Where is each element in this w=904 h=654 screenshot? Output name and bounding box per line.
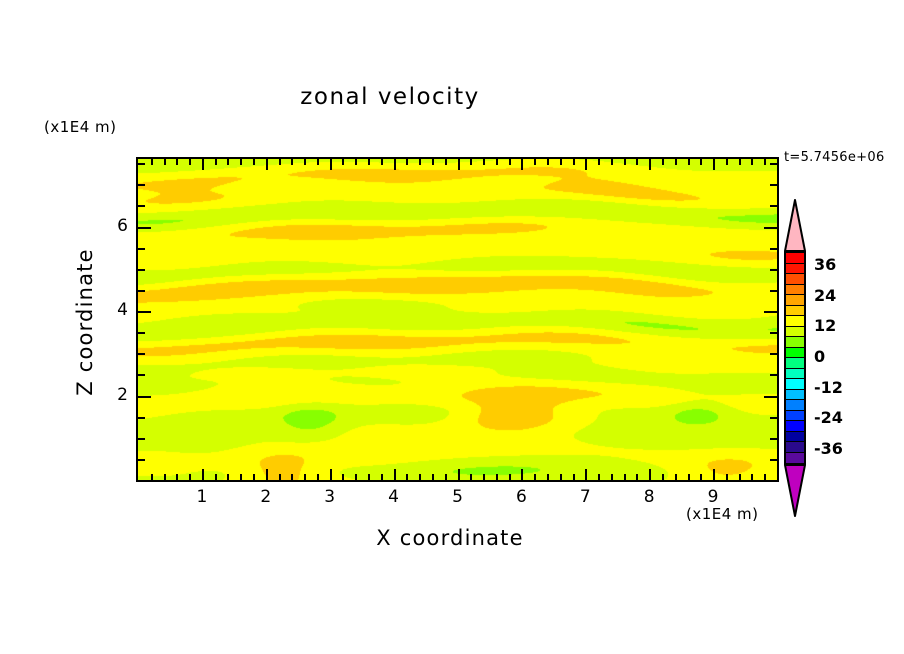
x-tick-bottom [470, 474, 472, 480]
y-tick-right [770, 459, 777, 461]
x-tick-bottom [394, 469, 396, 480]
x-tick-bottom [406, 474, 408, 480]
x-tick-top [598, 159, 600, 165]
colorbar-band [786, 411, 804, 422]
y-tick-right [770, 332, 777, 334]
colorbar-tick-label: -12 [814, 378, 843, 397]
x-tick-bottom [253, 474, 255, 480]
x-tick-top [419, 159, 421, 165]
x-tick-label: 5 [446, 487, 470, 507]
colorbar-band [786, 285, 804, 296]
y-tick-right [770, 248, 777, 250]
x-tick-top [176, 159, 178, 165]
colorbar-tick-label: 24 [814, 286, 836, 305]
y-tick-right [770, 353, 777, 355]
x-tick-label: 1 [190, 487, 214, 507]
y-tick-right [770, 205, 777, 207]
x-tick-bottom [726, 474, 728, 480]
colorbar-band [786, 274, 804, 285]
x-tick-bottom [777, 469, 779, 480]
y-tick-left [138, 248, 145, 250]
colorbar-band [786, 253, 804, 264]
x-tick-top [355, 159, 357, 165]
x-tick-top [202, 159, 204, 170]
colorbar-band [786, 369, 804, 380]
x-tick-label: 3 [318, 487, 342, 507]
x-tick-bottom [585, 469, 587, 480]
y-tick-label: 2 [104, 385, 128, 405]
x-tick-bottom [458, 469, 460, 480]
x-tick-bottom [355, 474, 357, 480]
y-tick-left [138, 417, 145, 419]
x-tick-label: 8 [637, 487, 661, 507]
colorbar-band [786, 390, 804, 401]
x-tick-bottom [164, 474, 166, 480]
x-tick-bottom [483, 474, 485, 480]
y-tick-left [138, 311, 151, 313]
y-tick-left [138, 438, 145, 440]
y-tick-right [770, 269, 777, 271]
x-tick-top [649, 159, 651, 170]
x-tick-top [713, 159, 715, 170]
x-tick-top [624, 159, 626, 165]
x-tick-top [253, 159, 255, 165]
x-tick-top [496, 159, 498, 165]
x-tick-top [458, 159, 460, 170]
x-tick-top [342, 159, 344, 165]
x-tick-top [151, 159, 153, 165]
x-tick-top [611, 159, 613, 165]
x-tick-label: 9 [701, 487, 725, 507]
x-tick-bottom [266, 469, 268, 480]
x-tick-top [470, 159, 472, 165]
x-tick-bottom [700, 474, 702, 480]
x-tick-top [521, 159, 523, 170]
x-tick-top [240, 159, 242, 165]
x-tick-top [330, 159, 332, 170]
x-tick-bottom [649, 469, 651, 480]
colorbar-under-arrow-icon [784, 464, 806, 517]
x-tick-bottom [240, 474, 242, 480]
x-tick-bottom [521, 469, 523, 480]
x-tick-bottom [317, 474, 319, 480]
x-tick-bottom [279, 474, 281, 480]
x-tick-top [189, 159, 191, 165]
y-tick-left [138, 459, 145, 461]
x-tick-bottom [688, 474, 690, 480]
y-tick-left [138, 184, 145, 186]
x-tick-bottom [751, 474, 753, 480]
x-tick-bottom [432, 474, 434, 480]
x-tick-bottom [419, 474, 421, 480]
y-tick-right [770, 163, 777, 165]
colorbar-band [786, 379, 804, 390]
x-tick-bottom [445, 474, 447, 480]
colorbar[interactable]: 3624120-12-24-36 [784, 199, 806, 517]
colorbar-tick-label: 36 [814, 255, 836, 274]
x-tick-top [279, 159, 281, 165]
timestamp-annotation: t=5.7456e+06 [784, 150, 885, 165]
x-tick-bottom [151, 474, 153, 480]
x-tick-label: 7 [573, 487, 597, 507]
x-tick-top [317, 159, 319, 165]
colorbar-tick-label: -24 [814, 408, 843, 427]
x-tick-top [636, 159, 638, 165]
x-tick-top [483, 159, 485, 165]
colorbar-bands [784, 251, 806, 465]
x-tick-top [215, 159, 217, 165]
x-tick-top [675, 159, 677, 165]
y-tick-left [138, 374, 145, 376]
colorbar-tick-label: 0 [814, 347, 825, 366]
x-tick-bottom [381, 474, 383, 480]
x-tick-bottom [611, 474, 613, 480]
page-title: zonal velocity [0, 84, 780, 110]
x-tick-label: 2 [254, 487, 278, 507]
colorbar-band [786, 432, 804, 443]
x-tick-bottom [764, 474, 766, 480]
x-tick-bottom [215, 474, 217, 480]
y-tick-left [138, 163, 145, 165]
y-tick-left [138, 290, 145, 292]
x-tick-bottom [573, 474, 575, 480]
x-tick-top [739, 159, 741, 165]
x-tick-top [726, 159, 728, 165]
x-tick-label: 4 [382, 487, 406, 507]
x-tick-bottom [304, 474, 306, 480]
contour-plot-area[interactable] [136, 157, 779, 482]
x-tick-bottom [509, 474, 511, 480]
x-tick-top [406, 159, 408, 165]
contour-field [138, 159, 777, 480]
x-tick-bottom [368, 474, 370, 480]
x-tick-top [394, 159, 396, 170]
x-tick-bottom [662, 474, 664, 480]
x-tick-top [688, 159, 690, 165]
colorbar-band [786, 442, 804, 453]
y-tick-right [770, 438, 777, 440]
x-tick-top [777, 159, 779, 170]
x-tick-top [227, 159, 229, 165]
x-tick-top [560, 159, 562, 165]
y-tick-right [764, 311, 777, 313]
y-tick-right [764, 227, 777, 229]
x-tick-top [266, 159, 268, 170]
colorbar-band [786, 306, 804, 317]
y-tick-left [138, 332, 145, 334]
x-tick-top [445, 159, 447, 165]
colorbar-band [786, 348, 804, 359]
colorbar-band [786, 453, 804, 464]
y-tick-label: 4 [104, 300, 128, 320]
y-tick-right [770, 417, 777, 419]
x-tick-bottom [496, 474, 498, 480]
x-tick-bottom [202, 469, 204, 480]
x-tick-top [585, 159, 587, 170]
x-tick-top [432, 159, 434, 165]
colorbar-tick-label: 12 [814, 316, 836, 335]
y-axis-title: Z coordinate [73, 207, 97, 437]
x-tick-bottom [291, 474, 293, 480]
x-tick-top [304, 159, 306, 165]
y-tick-right [770, 290, 777, 292]
y-tick-right [764, 396, 777, 398]
colorbar-over-arrow-icon [784, 199, 806, 252]
x-tick-bottom [547, 474, 549, 480]
x-tick-bottom [739, 474, 741, 480]
x-tick-top [534, 159, 536, 165]
x-tick-bottom [560, 474, 562, 480]
x-tick-bottom [227, 474, 229, 480]
x-tick-top [164, 159, 166, 165]
y-tick-right [770, 184, 777, 186]
x-tick-bottom [624, 474, 626, 480]
x-tick-top [662, 159, 664, 165]
x-tick-top [368, 159, 370, 165]
x-tick-label: 6 [509, 487, 533, 507]
colorbar-band [786, 400, 804, 411]
y-tick-left [138, 227, 151, 229]
colorbar-band [786, 316, 804, 327]
colorbar-band [786, 358, 804, 369]
colorbar-band [786, 421, 804, 432]
x-tick-bottom [713, 469, 715, 480]
x-tick-top [573, 159, 575, 165]
x-tick-bottom [189, 474, 191, 480]
y-axis-unit-caption: (x1E4 m) [44, 118, 117, 136]
x-tick-bottom [330, 469, 332, 480]
colorbar-band [786, 337, 804, 348]
x-tick-top [547, 159, 549, 165]
x-tick-top [700, 159, 702, 165]
colorbar-tick-label: -36 [814, 439, 843, 458]
x-tick-top [751, 159, 753, 165]
x-tick-top [291, 159, 293, 165]
y-tick-left [138, 353, 145, 355]
x-tick-bottom [675, 474, 677, 480]
x-tick-bottom [176, 474, 178, 480]
y-tick-right [770, 374, 777, 376]
y-tick-left [138, 396, 151, 398]
x-tick-bottom [534, 474, 536, 480]
x-tick-top [509, 159, 511, 165]
x-tick-top [764, 159, 766, 165]
x-tick-bottom [598, 474, 600, 480]
x-tick-bottom [636, 474, 638, 480]
y-tick-left [138, 269, 145, 271]
colorbar-band [786, 327, 804, 338]
y-tick-label: 6 [104, 216, 128, 236]
colorbar-band [786, 295, 804, 306]
x-tick-top [381, 159, 383, 165]
x-axis-title: X coordinate [285, 526, 615, 550]
colorbar-band [786, 264, 804, 275]
x-tick-bottom [342, 474, 344, 480]
x-axis-unit-caption: (x1E4 m) [686, 505, 759, 523]
y-tick-left [138, 205, 145, 207]
